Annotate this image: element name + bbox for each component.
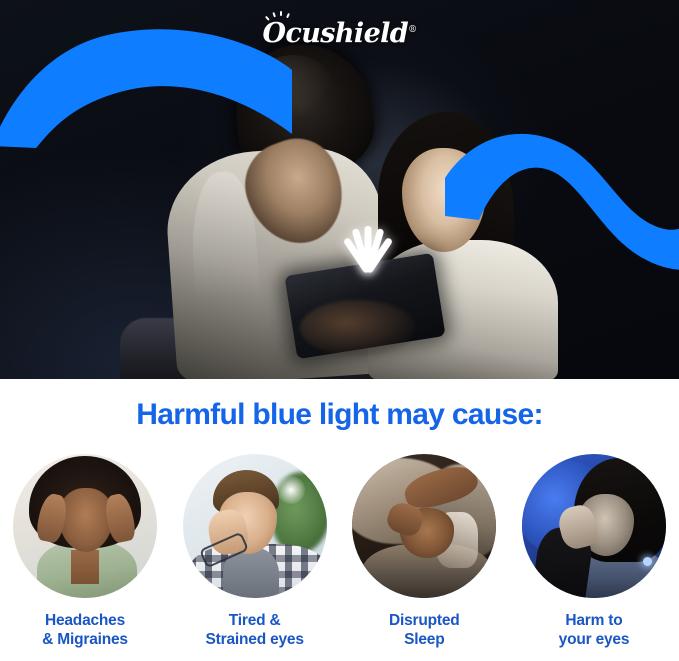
symptom-image-disrupted-sleep [352,454,496,598]
symptom-card-headaches: Headaches & Migraines [9,454,161,649]
benefits-section: Harmful blue light may cause: Headaches … [0,379,679,661]
symptom-card-disrupted-sleep: Disrupted Sleep [348,454,500,649]
hero-hands [300,300,416,356]
symptom-image-tired-eyes [183,454,327,598]
symptom-card-list: Headaches & Migraines Tired & Strained e… [0,454,679,649]
page-headline: Harmful blue light may cause: [0,379,679,432]
symptom-card-harm-to-eyes: Harm to your eyes [518,454,670,649]
hero-section: O cushield® [0,0,679,379]
symptom-caption: Headaches & Migraines [42,611,128,649]
brand-logo: O cushield® [262,18,416,49]
symptom-image-harm-to-eyes [522,454,666,598]
symptom-image-headaches [13,454,157,598]
logo-initial: O [262,18,285,49]
logo-sun-rays-icon [266,9,288,21]
symptom-card-tired-eyes: Tired & Strained eyes [179,454,331,649]
symptom-caption: Tired & Strained eyes [206,611,304,649]
symptom-caption: Disrupted Sleep [389,611,460,649]
logo-trademark: ® [408,25,416,35]
logo-wordmark: cushield [285,18,408,49]
symptom-caption: Harm to your eyes [559,611,630,649]
blue-light-rays-icon [330,226,406,272]
product-infographic: O cushield® Harmful blue light may cause… [0,0,679,661]
